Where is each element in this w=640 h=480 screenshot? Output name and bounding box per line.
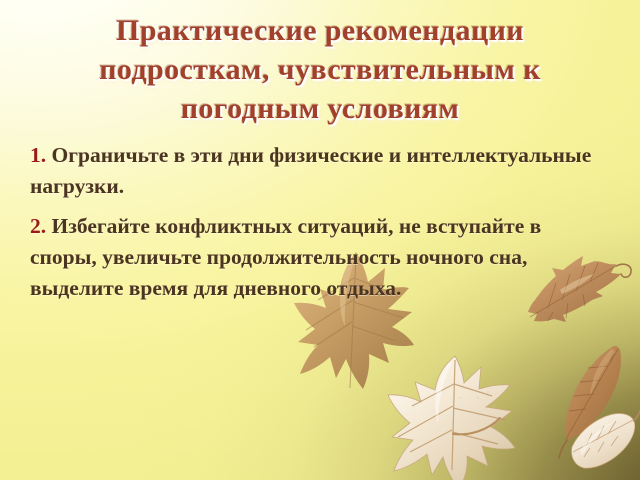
slide-canvas: Практические рекомендации подросткам, чу…	[0, 0, 640, 480]
list-item: 2. Избегайте конфликтных ситуаций, не вс…	[30, 211, 610, 304]
list-item-marker: 2.	[30, 214, 46, 238]
list-item-marker: 1.	[30, 143, 46, 167]
list-item-text: Ограничьте в эти дни физические и интелл…	[30, 143, 591, 198]
willow-leaf-brown	[559, 346, 621, 458]
list-item-text: Избегайте конфликтных ситуаций, не вступ…	[30, 214, 541, 300]
slide-title: Практические рекомендации подросткам, чу…	[0, 11, 640, 128]
birch-leaf-small	[572, 401, 640, 468]
title-line-1: Практические рекомендации	[0, 11, 640, 50]
title-line-2: подросткам, чувствительным к	[0, 50, 640, 89]
title-line-3: погодным условиям	[0, 89, 640, 128]
maple-leaf-pale	[388, 356, 515, 480]
slide-body: 1. Ограничьте в эти дни физические и инт…	[30, 140, 610, 304]
list-item: 1. Ограничьте в эти дни физические и инт…	[30, 140, 610, 202]
